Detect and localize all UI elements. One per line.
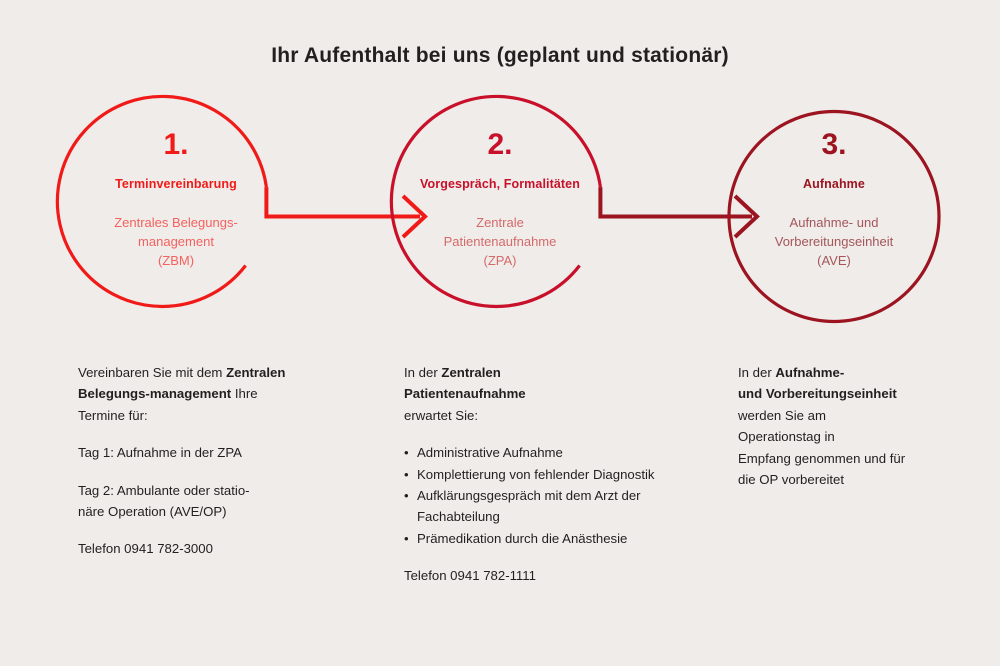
col2-intro-pre: In der bbox=[404, 365, 441, 380]
list-item: Komplettierung von fehlender Diagnostik bbox=[404, 464, 659, 485]
step-2-heading: Vorgespräch, Formalitäten bbox=[380, 177, 620, 191]
col1-day-2-line-2: näre Operation (AVE/OP) bbox=[78, 504, 227, 519]
col2-bullet-list: Administrative Aufnahme Komplettierung v… bbox=[404, 442, 659, 549]
list-item: Aufklärungsgespräch mit dem Arzt der Fac… bbox=[404, 485, 659, 528]
col3-body-line-2: Operationstag in bbox=[738, 429, 835, 444]
col1-intro-last: Termine für: bbox=[78, 408, 148, 423]
col1-intro: Vereinbaren Sie mit dem Zentralen Belegu… bbox=[78, 362, 328, 426]
column-step-3: In der Aufnahme-und Vorbereitungseinheit… bbox=[738, 362, 973, 490]
col3-body: In der Aufnahme-und Vorbereitungseinheit… bbox=[738, 362, 973, 490]
step-1-number: 1. bbox=[56, 130, 296, 160]
col1-day-2-line-1: Tag 2: Ambulante oder statio- bbox=[78, 483, 250, 498]
step-2-subtitle-line-2: Patientenaufnahme bbox=[380, 232, 620, 251]
col2-intro-bold2: Patientenaufnahme bbox=[404, 386, 526, 401]
step-1-heading: Terminvereinbarung bbox=[56, 177, 296, 191]
step-1-subtitle-line-2: management bbox=[56, 232, 296, 251]
col3-intro-pre: In der bbox=[738, 365, 775, 380]
list-item: Administrative Aufnahme bbox=[404, 442, 659, 463]
step-1-labels: 1. Terminvereinbarung Zentrales Belegung… bbox=[56, 130, 296, 271]
step-2-number: 2. bbox=[380, 130, 620, 160]
col1-phone: Telefon 0941 782-3000 bbox=[78, 538, 328, 559]
col1-intro-bold2: management bbox=[150, 386, 231, 401]
column-step-2: In der ZentralenPatientenaufnahmeerwarte… bbox=[404, 362, 659, 586]
list-item: Prämedikation durch die Anästhesie bbox=[404, 528, 659, 549]
step-3-number: 3. bbox=[714, 130, 954, 160]
col3-body-line-1: werden Sie am bbox=[738, 408, 826, 423]
col2-phone: Telefon 0941 782-1111 bbox=[404, 565, 659, 586]
step-1-subtitle-line-1: Zentrales Belegungs- bbox=[56, 213, 296, 232]
step-3-subtitle: Aufnahme- und Vorbereitungseinheit (AVE) bbox=[714, 213, 954, 271]
col1-day-2: Tag 2: Ambulante oder statio-näre Operat… bbox=[78, 480, 328, 523]
column-step-1: Vereinbaren Sie mit dem Zentralen Belegu… bbox=[78, 362, 328, 560]
step-2-labels: 2. Vorgespräch, Formalitäten Zentrale Pa… bbox=[380, 130, 620, 271]
col2-intro-post: erwartet Sie: bbox=[404, 408, 478, 423]
col3-body-line-4: die OP vorbereitet bbox=[738, 472, 844, 487]
col2-intro-bold1: Zentralen bbox=[441, 365, 500, 380]
step-3-heading: Aufnahme bbox=[714, 177, 954, 191]
col2-intro: In der ZentralenPatientenaufnahmeerwarte… bbox=[404, 362, 659, 426]
step-3-subtitle-line-1: Aufnahme- und bbox=[714, 213, 954, 232]
step-2-subtitle-line-3: (ZPA) bbox=[380, 251, 620, 270]
col3-body-line-3: Empfang genommen und für bbox=[738, 451, 905, 466]
col1-intro-post: Ihre bbox=[231, 386, 257, 401]
col3-intro-bold2: und Vorbereitungseinheit bbox=[738, 386, 897, 401]
step-3-subtitle-line-3: (AVE) bbox=[714, 251, 954, 270]
col1-day-1: Tag 1: Aufnahme in der ZPA bbox=[78, 442, 328, 463]
step-1-subtitle-line-3: (ZBM) bbox=[56, 251, 296, 270]
step-3-labels: 3. Aufnahme Aufnahme- und Vorbereitungse… bbox=[714, 130, 954, 271]
step-2-subtitle-line-1: Zentrale bbox=[380, 213, 620, 232]
col3-intro-bold1: Aufnahme- bbox=[775, 365, 844, 380]
step-2-subtitle: Zentrale Patientenaufnahme (ZPA) bbox=[380, 213, 620, 271]
step-3-subtitle-line-2: Vorbereitungseinheit bbox=[714, 232, 954, 251]
page-title: Ihr Aufenthalt bei uns (geplant und stat… bbox=[0, 44, 1000, 68]
step-1-subtitle: Zentrales Belegungs- management (ZBM) bbox=[56, 213, 296, 271]
col1-intro-pre: Vereinbaren Sie mit dem bbox=[78, 365, 226, 380]
